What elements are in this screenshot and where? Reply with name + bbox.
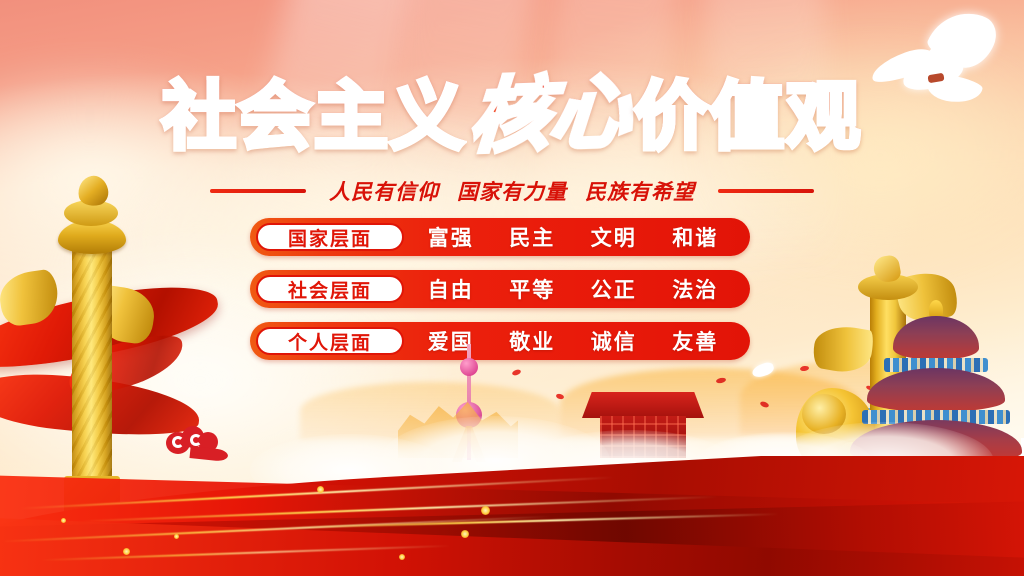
subtitle-rule-right — [718, 189, 814, 193]
level-badge-national: 国家层面 — [256, 223, 404, 251]
small-dove-icon — [751, 361, 776, 379]
value-words-individual: 爱国 敬业 诚信 友善 — [404, 326, 750, 356]
value-word: 自由 — [428, 274, 474, 304]
subtitle-part-3: 民族有希望 — [585, 179, 695, 204]
page-title: 社会主义核心价值观 — [0, 74, 1024, 154]
title-segment-brush: 核心 — [467, 71, 633, 157]
gold-sparkle — [123, 548, 130, 555]
value-row-social[interactable]: 社会层面 自由 平等 公正 法治 — [250, 270, 750, 308]
poster-canvas: 社会主义核心价值观 人民有信仰国家有力量民族有希望 国家层面 富强 民主 文明 … — [0, 0, 1024, 576]
red-silk-banner — [0, 456, 1024, 576]
value-word: 友善 — [672, 326, 718, 356]
confetti-petal — [716, 377, 727, 384]
level-badge-social: 社会层面 — [256, 275, 404, 303]
gold-sparkle — [461, 530, 469, 538]
value-row-individual[interactable]: 个人层面 爱国 敬业 诚信 友善 — [250, 322, 750, 360]
confetti-petal — [555, 393, 564, 400]
value-word: 爱国 — [428, 326, 474, 356]
title-segment-3: 价值观 — [634, 80, 862, 154]
value-word: 文明 — [591, 222, 637, 252]
shanghai-buildings — [398, 386, 518, 458]
lion-mane — [802, 394, 846, 434]
cloud-swirl-left — [172, 436, 184, 448]
temple-roof-top — [893, 316, 979, 360]
level-badge-individual: 个人层面 — [256, 327, 404, 355]
value-words-social: 自由 平等 公正 法治 — [404, 274, 750, 304]
subtitle-text: 人民有信仰国家有力量民族有希望 — [320, 176, 704, 206]
value-word: 富强 — [428, 222, 474, 252]
china-pavilion-icon — [582, 392, 704, 418]
subtitle-part-1: 人民有信仰 — [329, 179, 439, 204]
value-word: 诚信 — [591, 326, 637, 356]
value-word: 和谐 — [672, 222, 718, 252]
value-word: 平等 — [509, 274, 555, 304]
cloud-swirl-right — [190, 434, 202, 446]
value-words-national: 富强 民主 文明 和谐 — [404, 222, 750, 252]
hill-shape — [300, 382, 560, 440]
confetti-petal — [759, 400, 769, 408]
huabiao-cloud-wing-left — [0, 268, 61, 328]
china-pavilion-grid — [600, 416, 686, 458]
value-word: 敬业 — [509, 326, 555, 356]
value-word: 公正 — [591, 274, 637, 304]
title-segment-1: 社会主义 — [162, 80, 466, 154]
subtitle-rule-left — [210, 189, 306, 193]
subtitle-part-2: 国家有力量 — [457, 179, 567, 204]
core-values-list: 国家层面 富强 民主 文明 和谐 社会层面 自由 平等 公正 法治 个人层面 爱… — [250, 218, 750, 374]
temple-roof-middle — [867, 368, 1005, 412]
value-word: 民主 — [509, 222, 555, 252]
value-word: 法治 — [672, 274, 718, 304]
value-row-national[interactable]: 国家层面 富强 民主 文明 和谐 — [250, 218, 750, 256]
china-pavilion-body — [600, 416, 686, 458]
confetti-petal — [800, 365, 810, 371]
tower-sphere-lower — [456, 402, 482, 428]
